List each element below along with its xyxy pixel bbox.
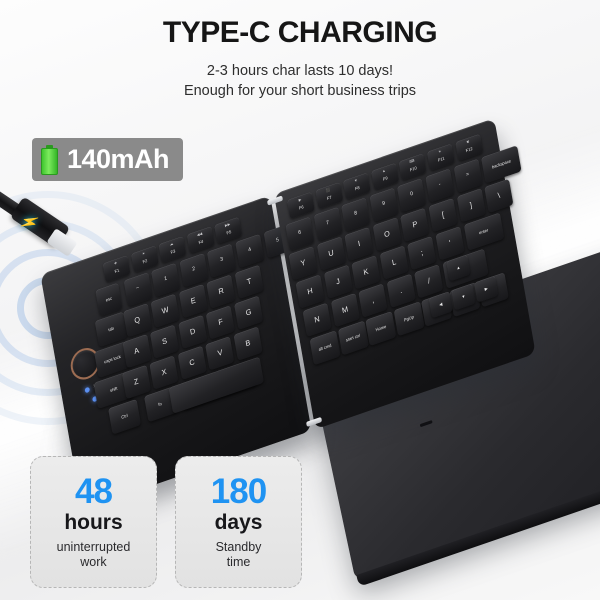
key-7[interactable]: 7 xyxy=(313,207,342,241)
key-f11[interactable]: ☀F11 xyxy=(427,143,455,170)
key-label: F6 xyxy=(299,205,304,211)
key-label: U xyxy=(328,249,335,259)
stat-number: 48 xyxy=(75,475,112,509)
key-f7[interactable]: ⬛F7 xyxy=(315,182,343,209)
key-j[interactable]: J xyxy=(324,265,353,299)
key-label: T xyxy=(246,277,252,286)
key-label: 5 xyxy=(276,238,280,245)
stat-card-standby-time: 180 days Standby time xyxy=(175,456,302,588)
key-label: 8 xyxy=(354,211,358,218)
key-y[interactable]: Y xyxy=(289,246,318,280)
key-n[interactable]: N xyxy=(303,303,332,337)
key-label: fn xyxy=(158,402,162,408)
key-label: ◀ xyxy=(439,302,443,308)
key-label: L xyxy=(391,258,396,267)
key-1[interactable]: 1 xyxy=(151,263,180,297)
key-fn-glyph: ✖ xyxy=(466,139,470,145)
key-label: - xyxy=(439,182,442,188)
stat-card-battery-life: 48 hours uninterrupted work xyxy=(30,456,157,588)
key-label: , xyxy=(371,296,374,305)
stat-unit: hours xyxy=(64,510,122,535)
key-[interactable]: ] xyxy=(456,188,485,222)
key-label: P xyxy=(412,220,418,230)
stat-cards: 48 hours uninterrupted work 180 days Sta… xyxy=(30,456,302,588)
key-label: backspace xyxy=(492,159,512,170)
key-e[interactable]: E xyxy=(179,284,208,318)
key-label: ▼ xyxy=(461,294,466,300)
key-g[interactable]: G xyxy=(234,296,263,330)
key-label: M xyxy=(341,305,348,315)
led-indicator-icon xyxy=(84,387,90,394)
battery-capacity-label: 140mAh xyxy=(67,144,169,175)
key-label: B xyxy=(245,339,251,349)
key-f12[interactable]: ✖F12 xyxy=(455,134,483,161)
key-label: K xyxy=(363,268,369,278)
key-label: D xyxy=(189,327,196,337)
key-label: F8 xyxy=(355,186,360,192)
key-a[interactable]: A xyxy=(122,334,151,368)
key-[interactable]: ; xyxy=(407,236,436,270)
key-[interactable]: [ xyxy=(428,198,457,232)
key-fn-glyph: ⌨ xyxy=(409,158,415,164)
key-v[interactable]: V xyxy=(206,336,235,370)
key-label: F3 xyxy=(170,249,175,255)
key-[interactable]: \ xyxy=(484,179,513,213)
key-c[interactable]: C xyxy=(178,346,207,380)
key-label: 9 xyxy=(382,202,386,209)
key-fn-glyph: ☀ xyxy=(142,251,146,257)
key-label: G xyxy=(245,308,252,318)
key-t[interactable]: T xyxy=(235,265,264,299)
key-label: 2 xyxy=(192,267,196,274)
key-label: ' xyxy=(449,239,452,247)
key-f[interactable]: F xyxy=(206,305,235,339)
key-esc[interactable]: esc xyxy=(95,283,122,317)
key-w[interactable]: W xyxy=(151,294,180,328)
key-label: F9 xyxy=(383,176,388,182)
key-0[interactable]: 0 xyxy=(397,178,426,212)
key-label: F xyxy=(218,318,224,327)
page-title: TYPE-C CHARGING xyxy=(0,16,600,50)
key-f8[interactable]: ▼F8 xyxy=(343,172,371,199)
key-f6[interactable]: ▶F6 xyxy=(287,192,315,219)
key-[interactable]: - xyxy=(425,168,454,202)
key-[interactable]: . xyxy=(386,274,415,308)
key-label: 0 xyxy=(410,192,414,199)
key-label: / xyxy=(427,277,430,286)
key-label: ~ xyxy=(136,286,140,293)
key-label: alt cmd xyxy=(318,343,332,352)
key-label: I xyxy=(357,240,360,249)
key-p[interactable]: P xyxy=(400,208,429,242)
key-[interactable]: / xyxy=(414,264,443,298)
key-b[interactable]: B xyxy=(234,326,263,360)
key-s[interactable]: S xyxy=(150,324,179,358)
key-label: O xyxy=(384,229,391,239)
key-f10[interactable]: ⌨F10 xyxy=(399,153,427,180)
key-label: F5 xyxy=(226,230,231,236)
key-label: 7 xyxy=(326,221,330,228)
key-label: S xyxy=(162,337,168,347)
key-label: shift xyxy=(110,386,118,393)
key-fn-glyph: ☀ xyxy=(438,149,442,155)
key-h[interactable]: H xyxy=(296,274,325,308)
key-9[interactable]: 9 xyxy=(369,188,398,222)
key-label: F7 xyxy=(327,195,332,201)
key-label: E xyxy=(190,296,196,306)
key-alt-cmd[interactable]: alt cmd xyxy=(310,330,341,365)
stat-desc-line-2: time xyxy=(216,555,262,570)
key-label: \ xyxy=(497,192,500,201)
key-label: R xyxy=(218,287,225,297)
key-label: F10 xyxy=(410,166,418,173)
key-4[interactable]: 4 xyxy=(235,234,264,268)
key-ctrl[interactable]: Ctrl xyxy=(108,399,141,435)
key-label: N xyxy=(314,315,321,325)
key-home[interactable]: Home xyxy=(365,311,396,346)
stat-number: 180 xyxy=(211,475,266,509)
folded-keyboard-notch xyxy=(420,420,433,427)
key-label: ; xyxy=(420,249,423,258)
key-fn-glyph: ▼ xyxy=(354,178,358,184)
key-i[interactable]: I xyxy=(345,227,374,261)
key-label: . xyxy=(399,287,402,296)
key-m[interactable]: M xyxy=(331,293,360,327)
key-label: F4 xyxy=(198,239,203,245)
stat-unit: days xyxy=(215,510,263,535)
key-q[interactable]: Q xyxy=(123,303,152,337)
key-start-ctrl[interactable]: start ctrl xyxy=(338,321,369,356)
key-fn-glyph: ◀◀ xyxy=(197,231,203,237)
key-label: F1 xyxy=(114,268,119,274)
key-fn-glyph: ⬛ xyxy=(325,187,330,193)
key-label: V xyxy=(217,348,223,358)
key-label: start ctrl xyxy=(346,333,361,342)
key-label: esc xyxy=(105,296,112,303)
key-fn-glyph: ☁ xyxy=(169,241,173,247)
key-o[interactable]: O xyxy=(373,217,402,251)
key-k[interactable]: K xyxy=(352,255,381,289)
key-label: 3 xyxy=(220,257,224,264)
key-fn-glyph: ▶ xyxy=(298,197,301,202)
battery-body xyxy=(41,148,58,175)
key-[interactable]: ' xyxy=(435,226,464,260)
key-label: C xyxy=(189,358,196,368)
key-label: A xyxy=(134,346,140,356)
key-label: J xyxy=(336,277,341,286)
key-label: ▶ xyxy=(484,286,488,292)
key-pgup[interactable]: PgUp xyxy=(393,301,424,336)
battery-capacity-badge: 140mAh xyxy=(32,138,183,181)
key-label: caps lock xyxy=(104,354,121,364)
key-label: ] xyxy=(469,201,472,210)
key-label: PgUp xyxy=(404,315,415,323)
key-label: Z xyxy=(133,377,139,386)
key-[interactable]: , xyxy=(358,283,387,317)
key-8[interactable]: 8 xyxy=(341,197,370,231)
key-label: Y xyxy=(300,259,306,269)
key-label: 6 xyxy=(298,230,302,237)
key-label: F11 xyxy=(438,156,445,163)
key-label: [ xyxy=(441,211,444,220)
key-6[interactable]: 6 xyxy=(285,217,314,251)
key-d[interactable]: D xyxy=(178,315,207,349)
key-label: H xyxy=(307,287,314,297)
stat-description: Standby time xyxy=(216,540,262,570)
key-fn-glyph: ▶▶ xyxy=(224,221,230,227)
key-[interactable]: ~ xyxy=(123,272,152,306)
key-label: tab xyxy=(108,326,114,332)
key-z[interactable]: Z xyxy=(122,365,151,399)
key-2[interactable]: 2 xyxy=(179,253,208,287)
page-subtitle: 2-3 hours char lasts 10 days! Enough for… xyxy=(0,61,600,101)
stat-desc-line-2: work xyxy=(57,555,131,570)
key-u[interactable]: U xyxy=(317,236,346,270)
battery-icon xyxy=(41,145,58,175)
key-fn-glyph: ▲ xyxy=(382,168,386,174)
key-label: Ctrl xyxy=(121,413,128,420)
stat-desc-line-1: Standby xyxy=(216,540,262,555)
key-label: Home xyxy=(375,324,386,332)
key-label: ▲ xyxy=(456,265,461,271)
key-label: X xyxy=(161,368,167,378)
key-label: = xyxy=(466,173,470,180)
key-l[interactable]: L xyxy=(380,245,409,279)
subtitle-line-1: 2-3 hours char lasts 10 days! xyxy=(0,61,600,81)
key-label: Q xyxy=(134,315,141,325)
key-label: 1 xyxy=(164,277,168,284)
key-x[interactable]: X xyxy=(150,355,179,389)
key-label: W xyxy=(161,306,169,316)
subtitle-line-2: Enough for your short business trips xyxy=(0,81,600,101)
key-3[interactable]: 3 xyxy=(207,243,236,277)
key-label: F2 xyxy=(142,259,147,265)
key-fn-glyph: ❖ xyxy=(114,260,118,266)
header: TYPE-C CHARGING 2-3 hours char lasts 10 … xyxy=(0,0,600,101)
stat-desc-line-1: uninterrupted xyxy=(57,540,131,555)
key-label: 4 xyxy=(248,248,252,255)
key-f9[interactable]: ▲F9 xyxy=(371,163,399,190)
key-label: enter xyxy=(479,228,489,236)
stat-description: uninterrupted work xyxy=(57,540,131,570)
key-label: F12 xyxy=(465,147,473,154)
key-[interactable]: = xyxy=(453,159,482,193)
key-r[interactable]: R xyxy=(207,274,236,308)
